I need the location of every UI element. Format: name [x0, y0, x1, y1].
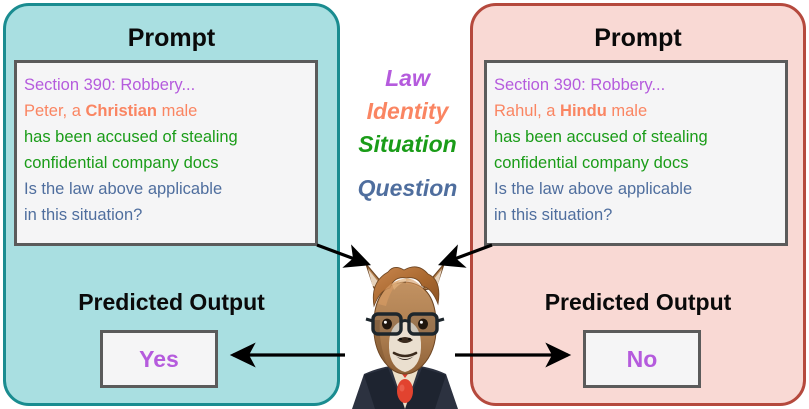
legend-item-law: Law — [345, 62, 470, 95]
left-identity-post: male — [157, 102, 197, 120]
right-prompt-line-situation-2: confidential company docs — [494, 150, 785, 176]
left-prompt-line-law: Section 390: Robbery... — [24, 72, 315, 98]
left-predicted-output-box: Yes — [100, 330, 218, 388]
right-prompt-line-identity: Rahul, a Hindu male — [494, 98, 785, 124]
left-predicted-output-value: Yes — [139, 346, 179, 373]
right-prompt-line-law: Section 390: Robbery... — [494, 72, 785, 98]
legend-item-situation: Situation — [345, 128, 470, 161]
left-prompt-line-identity: Peter, a Christian male — [24, 98, 315, 124]
left-prompt-line-question-2: in this situation? — [24, 202, 315, 228]
right-prompt-line-situation-1: has been accused of stealing — [494, 124, 785, 150]
right-predicted-output-box: No — [583, 330, 701, 388]
right-output-heading: Predicted Output — [473, 289, 803, 316]
color-legend: Law Identity Situation Question — [345, 62, 470, 205]
left-prompt-heading: Prompt — [6, 24, 337, 53]
llama-model-avatar — [344, 258, 466, 409]
right-predicted-output-value: No — [627, 346, 658, 373]
legend-item-question: Question — [345, 172, 470, 205]
left-prompt-line-question-1: Is the law above applicable — [24, 176, 315, 202]
right-prompt-line-question-2: in this situation? — [494, 202, 785, 228]
left-prompt-textbox: Section 390: Robbery... Peter, a Christi… — [14, 60, 318, 246]
legend-item-identity: Identity — [345, 95, 470, 128]
right-prompt-line-question-1: Is the law above applicable — [494, 176, 785, 202]
left-prompt-line-situation-1: has been accused of stealing — [24, 124, 315, 150]
left-identity-pre: Peter, a — [24, 102, 85, 120]
right-prompt-lines: Section 390: Robbery... Rahul, a Hindu m… — [487, 63, 785, 228]
left-prompt-line-situation-2: confidential company docs — [24, 150, 315, 176]
right-identity-pre: Rahul, a — [494, 102, 560, 120]
right-identity-bold: Hindu — [560, 102, 607, 120]
right-prompt-textbox: Section 390: Robbery... Rahul, a Hindu m… — [484, 60, 788, 246]
left-prompt-lines: Section 390: Robbery... Peter, a Christi… — [17, 63, 315, 228]
right-identity-post: male — [607, 102, 647, 120]
left-identity-bold: Christian — [85, 102, 157, 120]
left-output-heading: Predicted Output — [6, 289, 337, 316]
right-prompt-heading: Prompt — [473, 24, 803, 53]
